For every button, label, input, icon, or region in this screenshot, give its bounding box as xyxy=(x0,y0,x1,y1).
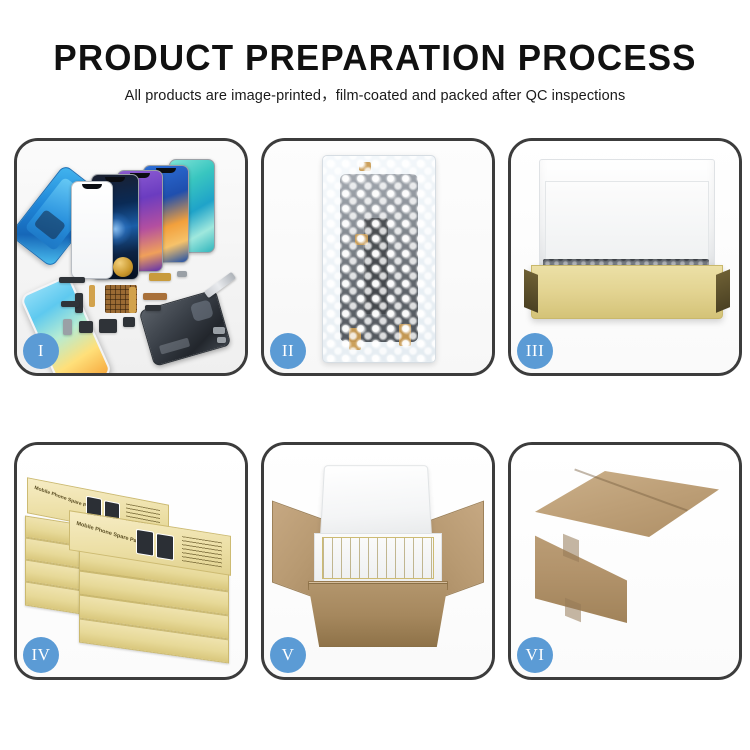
header: PRODUCT PREPARATION PROCESS All products… xyxy=(0,38,750,106)
box-phone-graphic xyxy=(136,529,154,557)
process-step-card-3[interactable]: III xyxy=(508,138,742,376)
part-chip xyxy=(149,273,171,281)
process-step-card-6[interactable]: VI xyxy=(508,442,742,680)
part-chip xyxy=(177,271,187,277)
part-chip xyxy=(61,301,79,307)
process-step-card-2[interactable]: II xyxy=(261,138,495,376)
box-spec-lines xyxy=(182,536,222,567)
process-step-card-4[interactable]: Mobile Phone Spare Parts Mobile Phone Sp… xyxy=(14,442,248,680)
step-badge-1: I xyxy=(23,333,59,369)
part-chip xyxy=(213,327,225,334)
part-chip xyxy=(79,321,93,333)
box-phone-graphic xyxy=(156,533,174,561)
step-badge-3: III xyxy=(517,333,553,369)
page-title: PRODUCT PREPARATION PROCESS xyxy=(11,38,739,78)
flex-cable-icon xyxy=(89,285,95,307)
foam-sheet-icon xyxy=(545,181,709,271)
flex-cable-icon xyxy=(129,287,136,313)
step-badge-6: VI xyxy=(517,637,553,673)
part-chip xyxy=(145,305,161,311)
process-step-card-1[interactable]: I xyxy=(14,138,248,376)
box-label-text: Mobile Phone Spare Parts xyxy=(76,521,144,547)
bubble-highlight-texture xyxy=(323,156,435,362)
kraft-box-base-icon xyxy=(531,265,723,319)
part-chip xyxy=(63,319,72,335)
packed-yellow-boxes-icon xyxy=(322,537,434,579)
part-chip xyxy=(217,337,226,343)
phone-icon-1 xyxy=(71,181,113,279)
process-step-grid: I II xyxy=(14,138,736,674)
step-badge-5: V xyxy=(270,637,306,673)
page-subtitle: All products are image-printed，film-coat… xyxy=(0,86,750,106)
bubble-wrap-bag-icon xyxy=(322,155,436,363)
carton-body-icon xyxy=(308,583,448,647)
box-stack-group: Mobile Phone Spare Parts Mobile Phone Sp… xyxy=(23,461,239,661)
part-chip xyxy=(143,293,167,300)
part-chip xyxy=(59,277,85,283)
step-badge-2: II xyxy=(270,333,306,369)
speaker-coin-part-icon xyxy=(113,257,133,277)
step-badge-4: IV xyxy=(23,637,59,673)
tweezers-icon xyxy=(204,272,236,298)
part-chip xyxy=(123,317,135,327)
part-chip xyxy=(99,319,117,333)
styrofoam-lid-icon xyxy=(320,465,432,539)
process-step-card-5[interactable]: V xyxy=(261,442,495,680)
product-preparation-infographic: PRODUCT PREPARATION PROCESS All products… xyxy=(0,0,750,750)
